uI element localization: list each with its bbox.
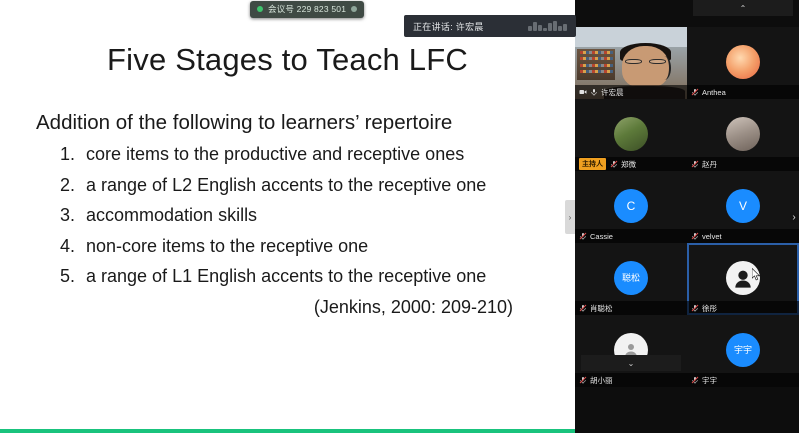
active-speaker-bar: 正在讲话: 许宏晨 [404,15,576,37]
list-item-text: non-core items to the receptive one [86,236,368,257]
microphone-muted-icon [691,376,699,384]
participant-tile[interactable]: 徐彤 [687,243,799,315]
microphone-muted-icon [691,160,699,168]
participant-label: 主持人 郑微 [575,157,687,171]
gallery-collapse-handle[interactable]: › [565,200,575,234]
list-item: 3. accommodation skills [60,205,575,226]
participant-avatar [614,117,648,151]
gallery-scroll-up-button[interactable]: ⌃ [693,0,793,16]
slide-citation: (Jenkins, 2000: 209-210) [0,297,513,318]
list-item: 1. core items to the productive and rece… [60,144,575,165]
microphone-muted-icon [579,304,587,312]
participant-label: velvet [687,229,799,243]
participant-name: 许宏晨 [601,87,624,98]
microphone-icon [590,88,598,96]
participant-label: 许宏晨 [575,85,687,99]
participant-name: 赵丹 [702,159,717,170]
participant-avatar: C [614,189,648,223]
list-item: 4. non-core items to the receptive one [60,236,575,257]
gallery-scroll-down-button[interactable]: ⌄ [581,355,681,371]
participant-tile[interactable]: 胡小丽 ⌄ [575,315,687,387]
participant-avatar: 宇宇 [726,333,760,367]
participant-avatar [726,117,760,151]
participant-tile[interactable]: 许宏晨 [575,27,687,99]
participant-name: Anthea [702,88,726,97]
gallery-column-left: 许宏晨 主持人 郑微 C Cassie 聪松 肖聪松 [575,0,687,433]
participant-name: Cassie [590,232,613,241]
participant-name: 郑微 [621,159,636,170]
microphone-muted-icon [691,88,699,96]
audio-wave-icon [528,21,567,31]
microphone-muted-icon [579,376,587,384]
participant-name: 肖聪松 [590,303,613,314]
participant-name: 徐彤 [702,303,717,314]
slide-lead-text: Addition of the following to learners’ r… [36,111,575,135]
slide-numbered-list: 1. core items to the productive and rece… [60,144,575,287]
participant-avatar [726,45,760,79]
participant-name: 宇宇 [702,375,717,386]
participant-name: velvet [702,232,722,241]
microphone-muted-icon [691,304,699,312]
list-item: 2. a range of L2 English accents to the … [60,175,575,196]
microphone-muted-icon [579,232,587,240]
active-speaker-label: 正在讲话: 许宏晨 [413,20,528,33]
participant-label: 徐彤 [687,301,799,315]
shared-screen-region[interactable]: Five Stages to Teach LFC Addition of the… [0,0,575,433]
gallery-next-page-button[interactable]: › [788,206,799,228]
participant-label: 宇宇 [687,373,799,387]
participant-tile[interactable]: 宇宇 宇宇 [687,315,799,387]
participant-label: 赵丹 [687,157,799,171]
participant-gallery[interactable]: › › 许宏晨 主持人 郑微 [575,0,799,433]
participant-label: Anthea [687,85,799,99]
list-item-number: 1. [60,144,86,165]
list-item-text: a range of L2 English accents to the rec… [86,175,486,196]
list-item-text: core items to the productive and recepti… [86,144,464,165]
participant-label: 肖聪松 [575,301,687,315]
presentation-slide: Five Stages to Teach LFC Addition of the… [0,6,575,433]
participant-avatar: V [726,189,760,223]
list-item-number: 4. [60,236,86,257]
list-item-number: 3. [60,205,86,226]
participant-avatar: 聪松 [614,261,648,295]
participant-tile[interactable]: Anthea [687,27,799,99]
participant-name: 胡小丽 [590,375,613,386]
mouse-cursor [752,268,762,282]
participant-tile[interactable]: 赵丹 [687,99,799,171]
camera-on-icon [579,88,587,96]
participant-label: 胡小丽 [575,373,687,387]
list-item: 5. a range of L1 English accents to the … [60,266,575,287]
host-badge: 主持人 [579,158,606,170]
microphone-muted-icon [610,160,618,168]
meeting-id-pill[interactable]: 会议号 229 823 501 [250,1,364,18]
list-item-text: a range of L1 English accents to the rec… [86,266,486,287]
list-item-number: 2. [60,175,86,196]
participant-tile[interactable]: V velvet [687,171,799,243]
list-item-number: 5. [60,266,86,287]
microphone-muted-icon [691,232,699,240]
participant-label: Cassie [575,229,687,243]
recording-dot-icon [257,6,263,12]
gallery-column-right: ⌃ Anthea 赵丹 V velvet [687,0,799,433]
list-item-text: accommodation skills [86,205,257,226]
slide-title: Five Stages to Teach LFC [0,42,575,78]
face-avatar-icon [732,267,754,289]
participant-tile[interactable]: 聪松 肖聪松 [575,243,687,315]
meeting-id-label: 会议号 229 823 501 [268,3,346,15]
participant-tile[interactable]: C Cassie [575,171,687,243]
participant-tile[interactable]: 主持人 郑微 [575,99,687,171]
meeting-info-icon[interactable] [351,6,357,12]
